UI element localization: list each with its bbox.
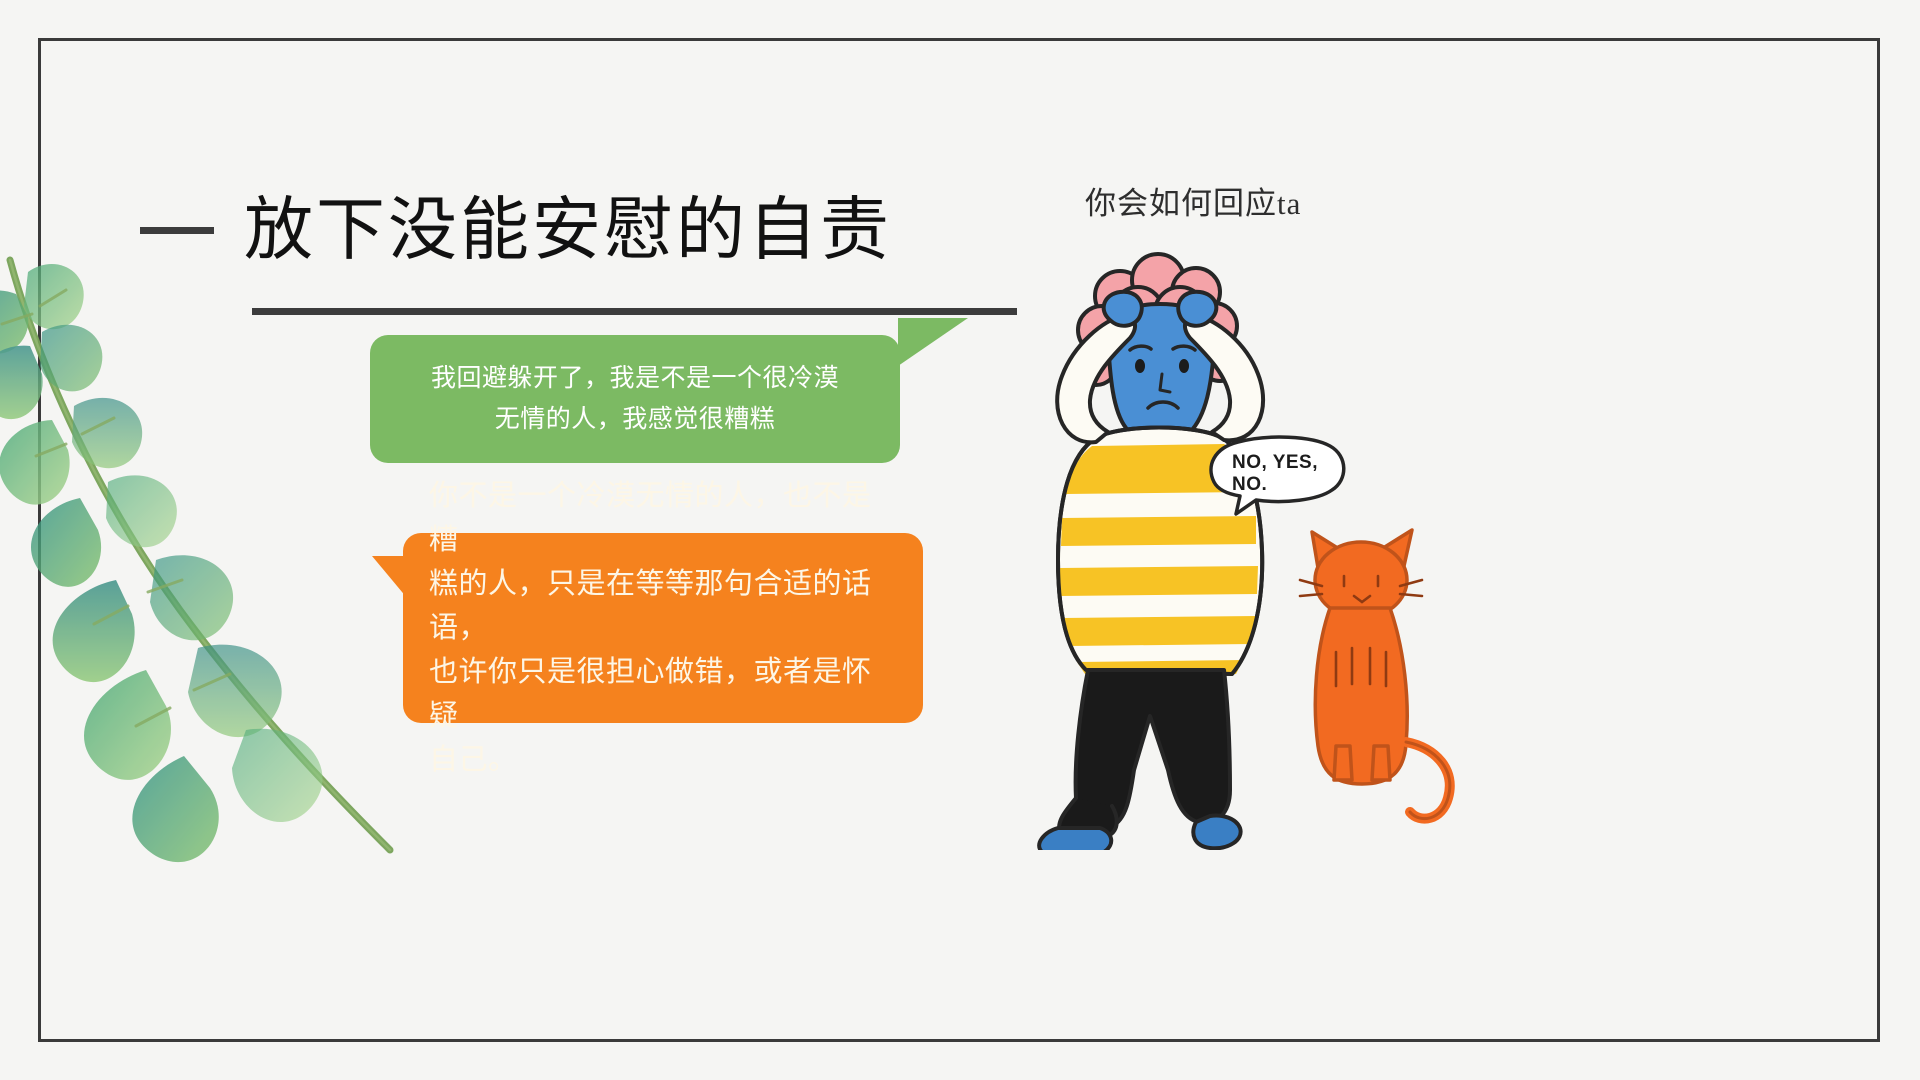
title-block: 放下没能安慰的自责 [140, 196, 1140, 265]
svg-text:NO, YES,: NO, YES, [1232, 452, 1318, 473]
green-bubble-text: 我回避躲开了，我是不是一个很冷漠 无情的人，我感觉很糟糕 [397, 358, 873, 441]
slide-canvas: 放下没能安慰的自责 你会如何回应ta 我回避躲开了，我是不是一个很冷漠 无情的人… [0, 0, 1920, 1080]
page-title: 放下没能安慰的自责 [244, 196, 892, 265]
person-with-cat-illustration: NO, YES, NO. [1000, 250, 1520, 850]
green-speech-bubble: 我回避躲开了，我是不是一个很冷漠 无情的人，我感觉很糟糕 [370, 335, 900, 463]
title-underline-rule [252, 308, 1017, 315]
slide-border-frame [38, 38, 1880, 1042]
orange-speech-bubble: 你不是一个冷漠无情的人，也不是糟 糕的人，只是在等等那句合适的话语， 也许你只是… [403, 533, 923, 723]
orange-bubble-text: 你不是一个冷漠无情的人，也不是糟 糕的人，只是在等等那句合适的话语， 也许你只是… [403, 474, 923, 783]
right-section-heading: 你会如何回应ta [1085, 178, 1301, 223]
green-bubble-tail [898, 318, 968, 366]
title-dash-icon [140, 227, 214, 234]
svg-text:NO.: NO. [1232, 474, 1267, 495]
